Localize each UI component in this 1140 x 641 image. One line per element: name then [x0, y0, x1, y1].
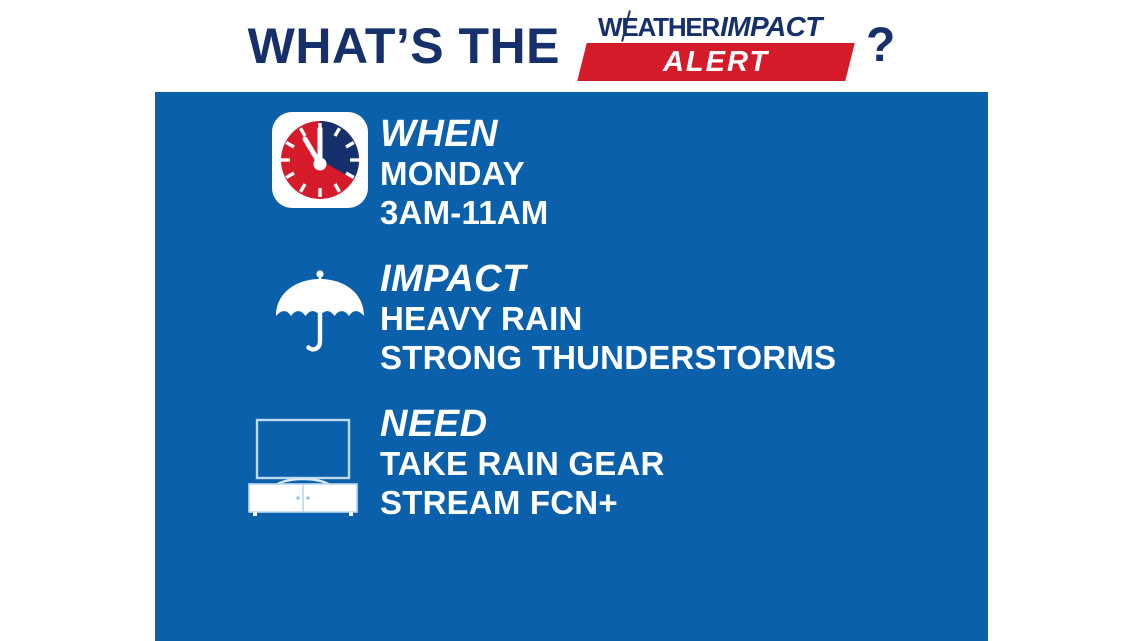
television-icon [225, 402, 380, 516]
logo-wordmark-top: WEATHER IMPACT [598, 13, 850, 43]
logo-word-weather: WEATHER [598, 14, 719, 40]
alert-row-when: WHEN MONDAY 3AM-11AM [260, 112, 548, 232]
logo-word-alert: ALERT [582, 43, 850, 81]
clock-icon [260, 112, 380, 208]
weather-alert-graphic: WHAT’S THE WEATHER IMPACT ALERT ? [0, 0, 1140, 641]
weather-impact-alert-logo: WEATHER IMPACT ALERT [582, 7, 850, 85]
umbrella-icon [260, 257, 380, 357]
alert-text-impact: IMPACT HEAVY RAIN STRONG THUNDERSTORMS [380, 257, 836, 377]
when-line-2: 3AM-11AM [380, 194, 548, 233]
alert-text-when: WHEN MONDAY 3AM-11AM [380, 112, 548, 232]
need-line-1: TAKE RAIN GEAR [380, 445, 665, 484]
alert-text-need: NEED TAKE RAIN GEAR STREAM FCN+ [380, 402, 665, 522]
logo-word-impact: IMPACT [720, 13, 822, 41]
impact-line-1: HEAVY RAIN [380, 300, 836, 339]
question-mark: ? [866, 22, 895, 70]
impact-line-2: STRONG THUNDERSTORMS [380, 339, 836, 378]
alert-details-panel: WHEN MONDAY 3AM-11AM IMPACT HEAVY RAIN S… [155, 92, 988, 641]
kicker-impact: IMPACT [380, 259, 836, 300]
alert-row-need: NEED TAKE RAIN GEAR STREAM FCN+ [225, 402, 665, 522]
kicker-when: WHEN [380, 114, 548, 155]
header-band: WHAT’S THE WEATHER IMPACT ALERT ? [0, 0, 1140, 92]
header-content: WHAT’S THE WEATHER IMPACT ALERT ? [155, 0, 988, 92]
kicker-need: NEED [380, 404, 665, 445]
need-line-2: STREAM FCN+ [380, 484, 665, 523]
page-title: WHAT’S THE [248, 21, 560, 71]
when-line-1: MONDAY [380, 155, 548, 194]
alert-row-impact: IMPACT HEAVY RAIN STRONG THUNDERSTORMS [260, 257, 836, 377]
